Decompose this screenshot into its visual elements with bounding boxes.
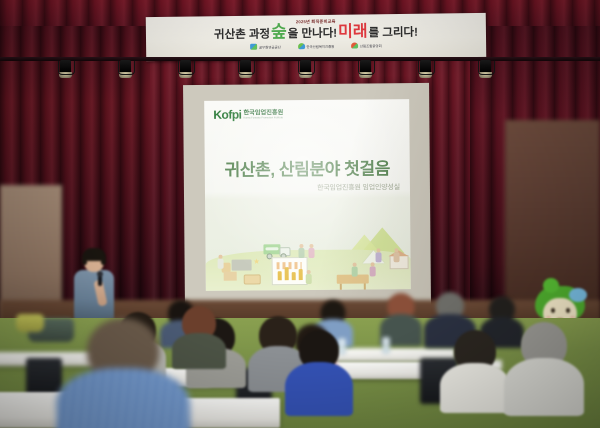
illustration-chart-board (272, 257, 308, 285)
attendee-white-shirt (440, 330, 510, 410)
stage-light-icon-1 (58, 60, 73, 79)
banner-course-label: 귀산촌 과정 (214, 26, 270, 43)
sponsor-mark-c-icon (351, 42, 358, 48)
event-banner: 2025년 퇴직준비교육 귀산촌 과정 숲 을 만나다! 미래 를 그리다! 공… (146, 13, 487, 61)
sponsor-logo-3: 산림조합중앙회 (351, 42, 381, 48)
banner-headline: 귀산촌 과정 숲 을 만나다! 미래 를 그리다! (214, 24, 418, 42)
illustration-person-2 (297, 244, 305, 260)
projection-screen: Kofpi 한국임업진흥원 Korea Forestry Promotion I… (183, 83, 431, 307)
sponsor-logo-2: 한국산림복지진흥원 (298, 43, 335, 49)
illustration-machinery-icon (232, 259, 252, 270)
mascot-eye-left (551, 308, 555, 313)
illustration-haybale-icon (244, 274, 261, 284)
presentation-slide: Kofpi 한국임업진흥원 Korea Forestry Promotion I… (204, 99, 411, 291)
illustration-person-6 (374, 248, 382, 263)
presenter-glasses-icon (85, 260, 103, 265)
stage-light-icon-2 (118, 60, 133, 79)
illustration-person-1 (217, 255, 225, 271)
bag-icon-2 (16, 314, 44, 332)
stage-light-icon-7 (418, 60, 433, 79)
banner-word-future: 미래 (338, 25, 368, 39)
banner-word-forest: 숲 (271, 25, 287, 40)
banner-phrase-draw: 를 그리다! (368, 24, 418, 41)
microphone-head-icon (97, 271, 103, 277)
illustration-person-7 (392, 248, 400, 263)
mascot-blue-accent (569, 288, 587, 302)
kofpi-wordmark: Kofpi (213, 109, 241, 121)
sponsor-name-1: 공무원연금공단 (259, 44, 281, 49)
sponsor-name-2: 한국산림복지진흥원 (306, 43, 334, 48)
bottle-icon-2 (382, 337, 390, 354)
presenter-shirt (74, 270, 114, 322)
sponsor-name-3: 산림조합중앙회 (360, 43, 382, 48)
stage-light-icon-5 (298, 60, 313, 79)
stage-light-icon-4 (238, 60, 253, 79)
illustration-presenter (305, 270, 313, 286)
slide-title: 귀산촌, 산림분야 첫걸음 (205, 154, 410, 181)
slide-subtitle: 한국임업진흥원 임업인양성실 (205, 182, 400, 194)
sponsor-mark-a-icon (250, 44, 257, 50)
seminar-photo: 2025년 퇴직준비교육 귀산촌 과정 숲 을 만나다! 미래 를 그리다! 공… (0, 0, 600, 428)
illustration-log-stack-icon (224, 272, 237, 281)
illustration-person-4 (351, 263, 359, 278)
illustration-person-5 (369, 262, 377, 277)
attendee-light-grey-shirt (506, 322, 582, 414)
slide-illustration (205, 211, 411, 291)
attendee-royal-blue-shirt (286, 330, 352, 414)
attendee-blue-striped-shirt (58, 318, 188, 428)
mascot-hair-tuft (543, 278, 559, 293)
illustration-person-3 (307, 244, 315, 260)
banner-sponsor-row: 공무원연금공단 한국산림복지진흥원 산림조합중앙회 (250, 42, 381, 50)
mascot-eye-right (566, 308, 570, 313)
sponsor-logo-1: 공무원연금공단 (250, 43, 280, 49)
stage-light-icon-3 (178, 60, 193, 79)
stage-light-icon-6 (358, 60, 373, 79)
kofpi-english-name: Korea Forestry Promotion Institute (243, 118, 283, 121)
kofpi-logo: Kofpi 한국임업진흥원 Korea Forestry Promotion I… (213, 108, 283, 121)
banner-phrase-meet: 을 만나다! (288, 25, 338, 42)
illustration-truck-icon (263, 244, 289, 257)
sponsor-mark-b-icon (298, 43, 305, 49)
stage-light-icon-8 (478, 60, 493, 79)
